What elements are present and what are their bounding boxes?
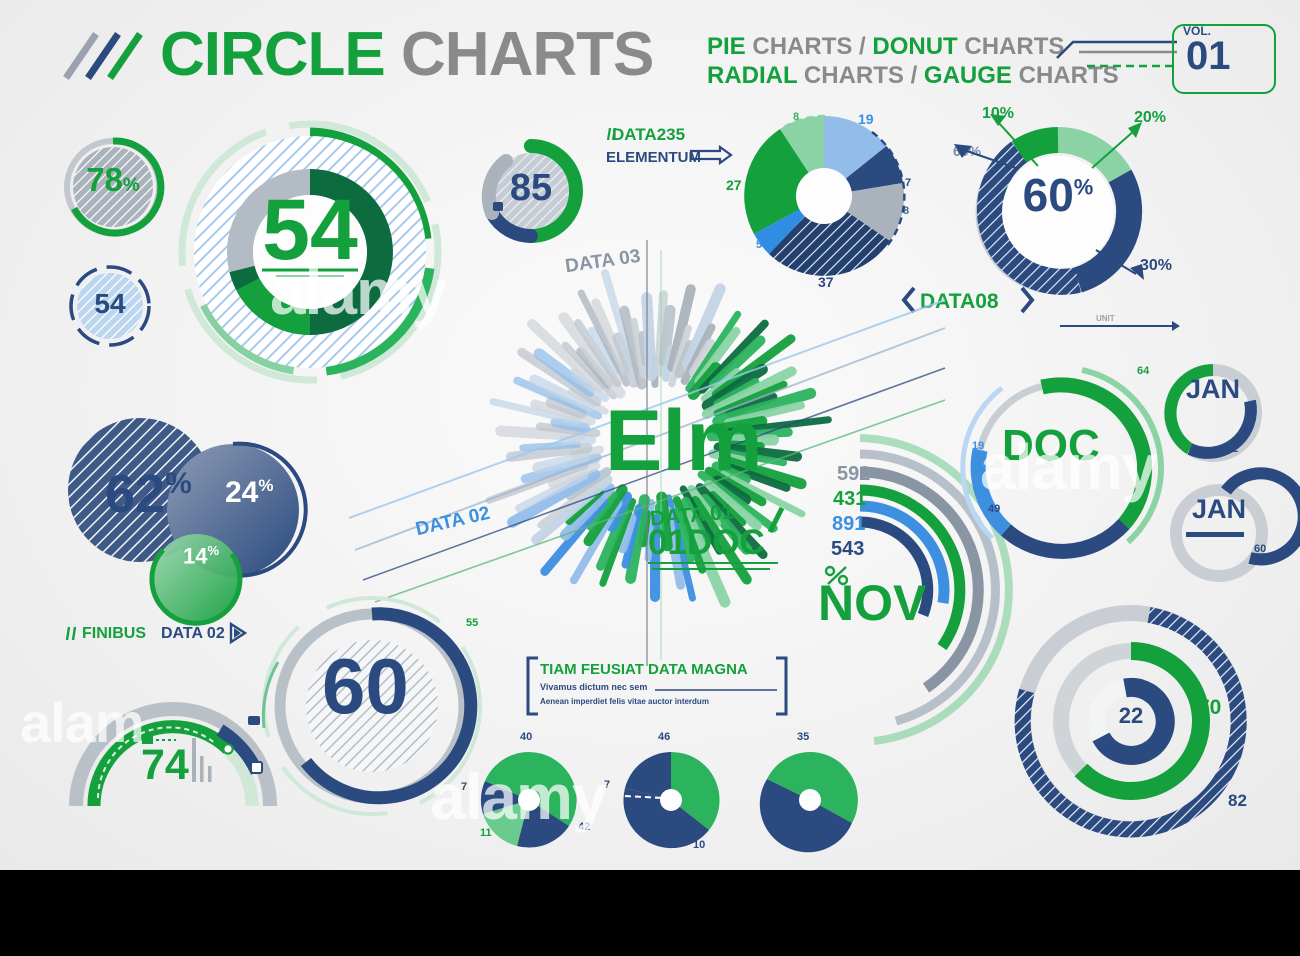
pie-main-label-7: 7 xyxy=(905,178,911,189)
burst-sub-value: 01DOC xyxy=(648,525,765,560)
pie-main-label-27: 27 xyxy=(726,178,742,192)
finibus-hash-icon xyxy=(64,625,80,641)
subtitle-charts-2: CHARTS xyxy=(964,33,1064,60)
bottom-pie-2-label-10: 10 xyxy=(693,840,705,851)
label-finibus-data02: DATA 02 xyxy=(161,626,225,642)
arcs-nov-row-3: 543 xyxy=(831,539,864,559)
donut-jan-bottom-underline xyxy=(1186,530,1244,540)
arrow-right-icon xyxy=(690,146,732,164)
radial-doc-label-35: 35 xyxy=(1140,472,1151,482)
page-title-grey: CHARTS xyxy=(401,20,653,89)
bottom-pie-1-label-40: 40 xyxy=(520,732,532,743)
pie-main-label-8b: 8 xyxy=(903,206,909,217)
footer-bar: alamy Image ID: T833YW xyxy=(0,870,1300,956)
gauge-78-number: 78 xyxy=(86,161,123,198)
circles-62-mid-value: 24% xyxy=(225,477,274,508)
gauge-60pct-leaders xyxy=(930,104,1170,284)
poster-canvas: CIRCLE CHARTS PIE CHARTS / DONUT CHARTS … xyxy=(0,0,1300,870)
burst-center-text: Elm xyxy=(605,398,763,484)
arcs-nov-row-2: 891 xyxy=(832,514,865,534)
unit-arrow xyxy=(1060,318,1180,334)
header-decoration-lines xyxy=(1055,36,1180,88)
textbox-title: TIAM FEUSIAT DATA MAGNA xyxy=(540,662,748,677)
subtitle-gauge: GAUGE xyxy=(924,62,1012,89)
donut-54-big-underline xyxy=(262,267,358,279)
page-title-green: CIRCLE xyxy=(160,20,385,89)
donut-54-small-value: 54 xyxy=(62,290,158,318)
label-finibus: FINIBUS xyxy=(82,626,146,642)
gauge-78-value: 78% xyxy=(58,163,168,196)
subtitle-charts-1: CHARTS / xyxy=(752,33,865,60)
circles-62-big-value: 62% xyxy=(105,467,192,521)
infographic-page: CIRCLE CHARTS PIE CHARTS / DONUT CHARTS … xyxy=(0,0,1300,956)
circles-62-small-value: 14% xyxy=(183,544,219,567)
donut-jan-bottom-label-60: 60 xyxy=(1254,544,1266,555)
radial-doc-label-19: 19 xyxy=(972,441,984,452)
subtitle-pie: PIE xyxy=(707,33,746,60)
gauge-60pct-callout-20: 20% xyxy=(1134,110,1166,126)
label-elementum: ELEMENTUM xyxy=(606,150,701,165)
donut-jan-bottom-center: JAN xyxy=(1164,496,1274,523)
chevron-right-icon xyxy=(1018,286,1036,314)
subtitle-radial: RADIAL xyxy=(707,62,797,89)
pie-main-label-8a: 8 xyxy=(793,112,799,123)
radial-doc-center: DOC xyxy=(1002,424,1100,468)
gauge-74-tick-icon xyxy=(142,732,182,746)
page-title: CIRCLE CHARTS xyxy=(160,24,653,86)
donut-60-marker: 55 xyxy=(466,618,478,629)
circles-62-small-number: 14 xyxy=(183,543,207,568)
donut-85-value: 85 xyxy=(476,169,586,207)
arcs-nov-month: NOV xyxy=(818,578,926,628)
bottom-pie-1-label-11: 11 xyxy=(480,828,492,839)
bottom-pie-1[interactable] xyxy=(477,748,581,852)
volume-number: 01 xyxy=(1186,34,1231,79)
burst-tick-icon xyxy=(762,504,790,538)
play-triangle-icon[interactable] xyxy=(228,622,248,644)
gauge-60pct-callout-10: 10% xyxy=(982,106,1014,122)
radial-doc-label-49: 49 xyxy=(988,504,1000,515)
textbox-line2: Aenean imperdiet felis vitae auctor inte… xyxy=(540,698,709,706)
donut-multi-label-70: 70 xyxy=(1198,697,1221,718)
subtitle-line-1: PIE CHARTS / DONUT CHARTS xyxy=(707,34,1064,61)
textbox-line1: Vivamus dictum nec sem xyxy=(540,683,647,692)
donut-jan-top-center: JAN xyxy=(1158,376,1268,403)
donut-60-value: 60 xyxy=(322,647,409,725)
gauge-74-value: 74 xyxy=(141,744,189,787)
unit-arrow-label: UNIT xyxy=(1096,315,1115,323)
bottom-pie-3-label-64: 64 xyxy=(812,842,824,853)
arcs-nov-row-0: 592 xyxy=(837,464,870,484)
donut-jan-top-label-64: 64 xyxy=(1137,366,1149,377)
circles-62-big-number: 62 xyxy=(105,464,165,524)
gauge-78-unit: % xyxy=(123,175,140,196)
circles-62-small-unit: % xyxy=(207,543,219,558)
bottom-pie-2-label-46: 46 xyxy=(658,732,670,743)
bottom-pie-1-label-7: 7 xyxy=(461,782,467,793)
burst-underlines xyxy=(648,560,788,574)
subtitle-donut: DONUT xyxy=(872,33,957,60)
circles-62-big-unit: % xyxy=(165,467,192,500)
donut-multi-label-82: 82 xyxy=(1228,792,1247,809)
gauge-60pct-callout-60: 60% xyxy=(953,144,981,158)
gauge-74-bars-icon xyxy=(192,736,218,784)
bottom-pie-2-label-7: 7 xyxy=(604,780,610,791)
pie-main-label-19: 19 xyxy=(858,112,874,126)
bottom-pie-3[interactable] xyxy=(758,748,862,852)
donut-jan-top-label-62: 62 xyxy=(1226,444,1238,455)
hash-icon xyxy=(606,127,620,141)
textbox-rule xyxy=(655,687,777,693)
bottom-pie-2[interactable] xyxy=(619,748,723,852)
label-data235: DATA235 xyxy=(612,126,685,143)
circles-62-mid-unit: % xyxy=(258,476,273,495)
bottom-pie-1-label-42: 42 xyxy=(578,822,590,833)
circles-62-mid-number: 24 xyxy=(225,476,258,509)
gauge-60pct-callout-30: 30% xyxy=(1140,258,1172,274)
subtitle-charts-3: CHARTS / xyxy=(804,62,917,89)
bottom-pie-3-label-35: 35 xyxy=(797,732,809,743)
triple-slash-icon xyxy=(60,30,144,82)
arcs-nov-row-1: 431 xyxy=(833,489,866,509)
